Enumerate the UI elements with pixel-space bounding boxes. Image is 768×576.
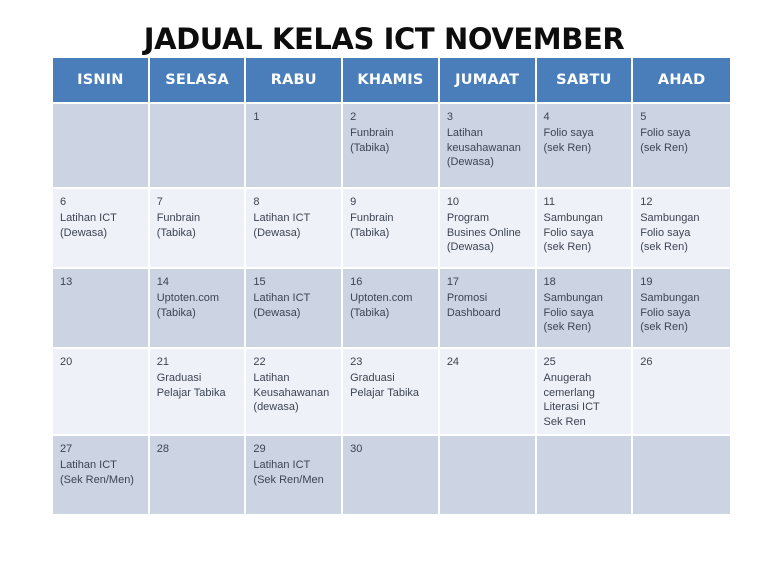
calendar-day-cell[interactable] (440, 436, 537, 514)
day-number: 22 (253, 355, 335, 370)
calendar-week-row: 20 21 Graduasi Pelajar Tabika 22 Latihan… (53, 349, 730, 436)
day-event: Latihan ICT (Dewasa) (60, 211, 142, 240)
calendar-header-row-group: ISNIN SELASA RABU KHAMIS JUMAAT SABTU AH… (53, 58, 730, 104)
day-event: Sambungan Folio saya (sek Ren) (640, 291, 724, 335)
weekday-header-rabu: RABU (246, 58, 343, 104)
day-number: 3 (447, 110, 529, 125)
calendar-day-cell[interactable]: 27 Latihan ICT (Sek Ren/Men) (53, 436, 150, 514)
day-number: 19 (640, 275, 724, 290)
calendar-body: 1 2 Funbrain (Tabika) 3 Latihan keusahaw… (53, 104, 730, 514)
calendar-day-cell[interactable] (633, 436, 730, 514)
day-event: Latihan keusahawanan (Dewasa) (447, 126, 529, 170)
day-event: Graduasi Pelajar Tabika (157, 371, 239, 400)
day-number: 11 (544, 195, 626, 210)
calendar-day-cell[interactable]: 29 Latihan ICT (Sek Ren/Men (246, 436, 343, 514)
day-number: 5 (640, 110, 724, 125)
day-number: 4 (544, 110, 626, 125)
calendar-day-cell[interactable]: 22 Latihan Keusahawanan (dewasa) (246, 349, 343, 436)
day-event: Latihan Keusahawanan (dewasa) (253, 371, 335, 415)
day-event: Program Busines Online (Dewasa) (447, 211, 529, 255)
weekday-header-ahad: AHAD (633, 58, 730, 104)
calendar-day-cell[interactable]: 24 (440, 349, 537, 436)
day-number: 9 (350, 195, 432, 210)
calendar-day-cell[interactable]: 16 Uptoten.com (Tabika) (343, 269, 440, 349)
calendar-day-cell[interactable]: 15 Latihan ICT (Dewasa) (246, 269, 343, 349)
calendar-day-cell[interactable]: 5 Folio saya (sek Ren) (633, 104, 730, 189)
day-number: 30 (350, 442, 432, 457)
calendar-day-cell[interactable]: 26 (633, 349, 730, 436)
day-number: 28 (157, 442, 239, 457)
day-event: Sambungan Folio saya (sek Ren) (640, 211, 724, 255)
day-event: Folio saya (sek Ren) (640, 126, 724, 155)
calendar-day-cell[interactable]: 23 Graduasi Pelajar Tabika (343, 349, 440, 436)
day-event: Latihan ICT (Sek Ren/Men) (60, 458, 142, 487)
day-number: 12 (640, 195, 724, 210)
day-event: Latihan ICT (Dewasa) (253, 211, 335, 240)
weekday-header-row: ISNIN SELASA RABU KHAMIS JUMAAT SABTU AH… (53, 58, 730, 104)
calendar-page: JADUAL KELAS ICT NOVEMBER ISNIN SELASA R… (0, 0, 768, 576)
weekday-header-selasa: SELASA (150, 58, 247, 104)
day-number: 27 (60, 442, 142, 457)
calendar-week-row: 13 14 Uptoten.com (Tabika) 15 Latihan IC… (53, 269, 730, 349)
calendar-day-cell[interactable]: 30 (343, 436, 440, 514)
day-event: Uptoten.com (Tabika) (157, 291, 239, 320)
calendar-day-cell[interactable]: 13 (53, 269, 150, 349)
day-event: Graduasi Pelajar Tabika (350, 371, 432, 400)
day-number: 25 (544, 355, 626, 370)
calendar-day-cell[interactable]: 6 Latihan ICT (Dewasa) (53, 189, 150, 269)
day-number: 8 (253, 195, 335, 210)
page-title: JADUAL KELAS ICT NOVEMBER (0, 22, 768, 56)
day-number: 13 (60, 275, 142, 290)
calendar-day-cell[interactable]: 11 Sambungan Folio saya (sek Ren) (537, 189, 634, 269)
calendar-day-cell[interactable]: 2 Funbrain (Tabika) (343, 104, 440, 189)
day-event: Latihan ICT (Sek Ren/Men (253, 458, 335, 487)
day-number: 24 (447, 355, 529, 370)
day-number: 2 (350, 110, 432, 125)
day-event: Uptoten.com (Tabika) (350, 291, 432, 320)
calendar-day-cell[interactable]: 1 (246, 104, 343, 189)
day-event: Promosi Dashboard (447, 291, 529, 320)
day-event: Sambungan Folio saya (sek Ren) (544, 211, 626, 255)
day-event: Funbrain (Tabika) (157, 211, 239, 240)
calendar-day-cell[interactable] (537, 436, 634, 514)
calendar-day-cell[interactable] (150, 104, 247, 189)
calendar-day-cell[interactable]: 14 Uptoten.com (Tabika) (150, 269, 247, 349)
day-number: 26 (640, 355, 724, 370)
calendar-day-cell[interactable]: 12 Sambungan Folio saya (sek Ren) (633, 189, 730, 269)
calendar-day-cell[interactable]: 7 Funbrain (Tabika) (150, 189, 247, 269)
day-number: 14 (157, 275, 239, 290)
day-event: Anugerah cemerlang Literasi ICT Sek Ren (544, 371, 626, 429)
day-number: 15 (253, 275, 335, 290)
calendar-day-cell[interactable]: 4 Folio saya (sek Ren) (537, 104, 634, 189)
day-event: Folio saya (sek Ren) (544, 126, 626, 155)
weekday-header-sabtu: SABTU (537, 58, 634, 104)
calendar-day-cell[interactable]: 17 Promosi Dashboard (440, 269, 537, 349)
day-number: 17 (447, 275, 529, 290)
calendar-day-cell[interactable]: 28 (150, 436, 247, 514)
day-number: 7 (157, 195, 239, 210)
day-number: 6 (60, 195, 142, 210)
calendar-week-row: 1 2 Funbrain (Tabika) 3 Latihan keusahaw… (53, 104, 730, 189)
calendar-day-cell[interactable]: 18 Sambungan Folio saya (sek Ren) (537, 269, 634, 349)
calendar-day-cell[interactable]: 20 (53, 349, 150, 436)
calendar-day-cell[interactable]: 9 Funbrain (Tabika) (343, 189, 440, 269)
calendar-day-cell[interactable]: 19 Sambungan Folio saya (sek Ren) (633, 269, 730, 349)
weekday-header-isnin: ISNIN (53, 58, 150, 104)
calendar-table: ISNIN SELASA RABU KHAMIS JUMAAT SABTU AH… (53, 58, 730, 514)
day-number: 10 (447, 195, 529, 210)
weekday-header-khamis: KHAMIS (343, 58, 440, 104)
day-event: Sambungan Folio saya (sek Ren) (544, 291, 626, 335)
calendar-week-row: 27 Latihan ICT (Sek Ren/Men) 28 29 Latih… (53, 436, 730, 514)
weekday-header-jumaat: JUMAAT (440, 58, 537, 104)
day-number: 21 (157, 355, 239, 370)
calendar-day-cell[interactable]: 21 Graduasi Pelajar Tabika (150, 349, 247, 436)
calendar-day-cell[interactable]: 25 Anugerah cemerlang Literasi ICT Sek R… (537, 349, 634, 436)
day-event: Funbrain (Tabika) (350, 126, 432, 155)
calendar-day-cell[interactable] (53, 104, 150, 189)
day-number: 29 (253, 442, 335, 457)
day-number: 16 (350, 275, 432, 290)
day-number: 20 (60, 355, 142, 370)
day-number: 23 (350, 355, 432, 370)
calendar-day-cell[interactable]: 3 Latihan keusahawanan (Dewasa) (440, 104, 537, 189)
calendar-day-cell[interactable]: 8 Latihan ICT (Dewasa) (246, 189, 343, 269)
calendar-week-row: 6 Latihan ICT (Dewasa) 7 Funbrain (Tabik… (53, 189, 730, 269)
day-number: 18 (544, 275, 626, 290)
day-event: Latihan ICT (Dewasa) (253, 291, 335, 320)
day-event: Funbrain (Tabika) (350, 211, 432, 240)
day-number: 1 (253, 110, 335, 125)
calendar-day-cell[interactable]: 10 Program Busines Online (Dewasa) (440, 189, 537, 269)
